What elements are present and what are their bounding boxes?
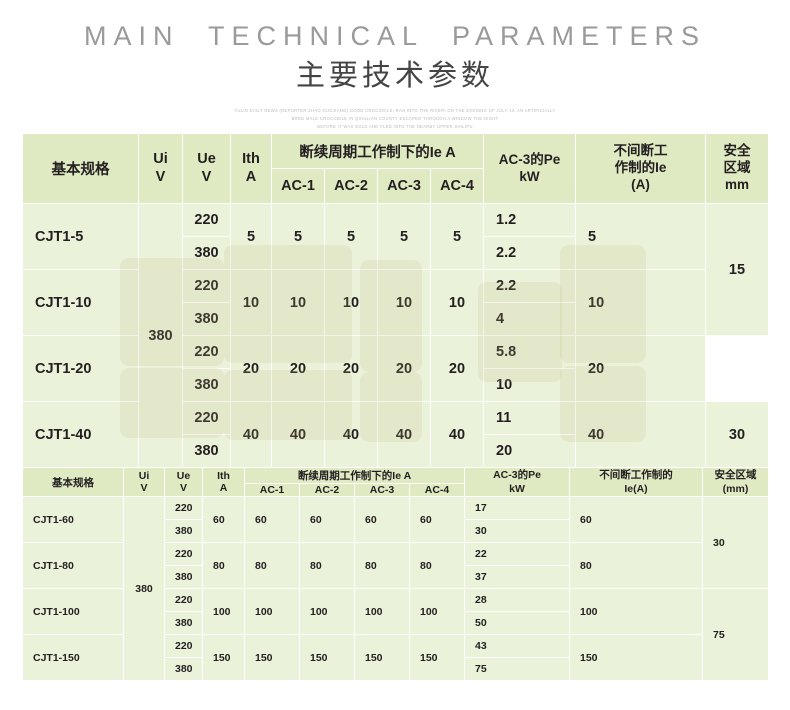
header-ac-group: 断续周期工作制下的Ie A (245, 468, 465, 484)
cell-ith: 150 (203, 635, 245, 681)
header-ue-unit: V (165, 482, 202, 495)
cell-continuous: 5 (576, 204, 706, 270)
cell-ue: 220 (183, 402, 231, 435)
cell-ue: 380 (165, 658, 203, 681)
header-ui-unit: V (139, 169, 182, 186)
cell-ac1: 80 (245, 543, 300, 589)
header-pe-label: AC-3的Pe (465, 468, 569, 482)
cell-safety-zone: 75 (703, 589, 769, 681)
header-ac3: AC-3 (355, 484, 410, 497)
header-ith: Ith A (203, 468, 245, 497)
cell-ue: 220 (165, 635, 203, 658)
cell-ue: 380 (183, 435, 231, 468)
cell-pe: 10 (484, 369, 576, 402)
cell-ue: 380 (183, 303, 231, 336)
header-ac2: AC-2 (300, 484, 355, 497)
cell-pe: 5.8 (484, 336, 576, 369)
header-ac1: AC-1 (245, 484, 300, 497)
cell-spec: CJT1-40 (23, 402, 139, 468)
cell-ac1: 20 (272, 336, 325, 402)
parameters-table-2-wrapper: 基本规格 Ui V Ue V Ith A 断续周期工作制下的Ie A AC-3的… (22, 467, 769, 681)
page-title-english: MAIN TECHNICAL PARAMETERS (0, 22, 790, 52)
cell-pe: 43 (465, 635, 570, 658)
cell-ac2: 40 (325, 402, 378, 468)
cell-ui: 380 (124, 497, 165, 681)
cell-ue: 380 (165, 612, 203, 635)
cell-ac3: 20 (378, 336, 431, 402)
cell-pe: 11 (484, 402, 576, 435)
cell-ac4: 5 (431, 204, 484, 270)
header-ac1: AC-1 (272, 169, 325, 204)
cell-ac2: 60 (300, 497, 355, 543)
cell-ac3: 10 (378, 270, 431, 336)
table-row: CJT1-20 220 20 20 20 20 20 5.8 20 (23, 336, 769, 369)
cell-spec: CJT1-20 (23, 336, 139, 402)
table-row: CJT1-60 380 220 60 60 60 60 60 17 60 30 (23, 497, 769, 520)
header-ue-label: Ue (183, 151, 230, 168)
header-ith: Ith A (231, 134, 272, 204)
cell-ith: 100 (203, 589, 245, 635)
cell-ac4: 10 (431, 270, 484, 336)
header-spec: 基本规格 (23, 468, 124, 497)
cell-ue: 380 (165, 566, 203, 589)
cell-ac4: 100 (410, 589, 465, 635)
cell-ac1: 40 (272, 402, 325, 468)
table-header-row: 基本规格 Ui V Ue V Ith A 断续周期工作制下的Ie A AC-3的… (23, 468, 769, 484)
cell-continuous: 40 (576, 402, 706, 468)
cell-spec: CJT1-60 (23, 497, 124, 543)
cell-ac2: 5 (325, 204, 378, 270)
cell-ac3: 60 (355, 497, 410, 543)
cell-ue: 380 (183, 237, 231, 270)
header-pe-unit: kW (484, 169, 575, 186)
cell-pe: 1.2 (484, 204, 576, 237)
header-ac2: AC-2 (325, 169, 378, 204)
header-ac3: AC-3 (378, 169, 431, 204)
table-row: CJT1-5 380 220 5 5 5 5 5 1.2 5 15 (23, 204, 769, 237)
cell-ac2: 150 (300, 635, 355, 681)
header-ue-unit: V (183, 169, 230, 186)
header-safety-zone: 安全区域 (mm) (703, 468, 769, 497)
cell-continuous: 150 (570, 635, 703, 681)
cell-pe: 28 (465, 589, 570, 612)
cell-pe: 50 (465, 612, 570, 635)
cell-pe: 20 (484, 435, 576, 468)
cell-ac4: 20 (431, 336, 484, 402)
cell-continuous: 20 (576, 336, 706, 402)
cell-spec: CJT1-5 (23, 204, 139, 270)
cell-ac3: 150 (355, 635, 410, 681)
cell-pe: 17 (465, 497, 570, 520)
cell-spec: CJT1-10 (23, 270, 139, 336)
cell-spec: CJT1-100 (23, 589, 124, 635)
table-row: CJT1-10 220 10 10 10 10 10 2.2 10 (23, 270, 769, 303)
header-ui: Ui V (139, 134, 183, 204)
header-ue-label: Ue (165, 470, 202, 483)
header-ac4: AC-4 (410, 484, 465, 497)
cell-ac4: 40 (431, 402, 484, 468)
cell-pe: 75 (465, 658, 570, 681)
cell-continuous: 100 (570, 589, 703, 635)
cell-pe: 2.2 (484, 270, 576, 303)
cell-ac2: 100 (300, 589, 355, 635)
cell-ue: 220 (183, 336, 231, 369)
cell-ue: 380 (183, 369, 231, 402)
header-ith-label: Ith (203, 470, 244, 483)
header-pe: AC-3的Pe kW (484, 134, 576, 204)
page-header: MAIN TECHNICAL PARAMETERS 主要技术参数 YULIN D… (0, 0, 790, 130)
parameters-table-1-wrapper: 基本规格 Ui V Ue V Ith A 断续周期工作制下的Ie A AC-3的… (22, 133, 769, 468)
cell-spec: CJT1-80 (23, 543, 124, 589)
cell-pe: 22 (465, 543, 570, 566)
header-ui-unit: V (124, 482, 164, 495)
cell-pe: 30 (465, 520, 570, 543)
cell-ith: 10 (231, 270, 272, 336)
cell-continuous: 10 (576, 270, 706, 336)
cell-ue: 220 (183, 204, 231, 237)
header-continuous: 不间断工作制的 Ie(A) (570, 468, 703, 497)
cell-ac1: 150 (245, 635, 300, 681)
cell-pe: 2.2 (484, 237, 576, 270)
header-ui-label: Ui (139, 151, 182, 168)
cell-ac4: 60 (410, 497, 465, 543)
header-safety-zone: 安全 区域 mm (706, 134, 769, 204)
header-ith-unit: A (231, 169, 271, 186)
header-ac-group: 断续周期工作制下的Ie A (272, 134, 484, 169)
cell-safety-zone: 30 (706, 402, 769, 468)
cell-ac1: 5 (272, 204, 325, 270)
cell-ac1: 60 (245, 497, 300, 543)
cell-ac2: 20 (325, 336, 378, 402)
header-ith-unit: A (203, 482, 244, 495)
cell-ue: 220 (165, 543, 203, 566)
cell-ue: 220 (183, 270, 231, 303)
cell-spec: CJT1-150 (23, 635, 124, 681)
cell-ith: 20 (231, 336, 272, 402)
cell-continuous: 80 (570, 543, 703, 589)
header-continuous: 不间断工 作制的Ie (A) (576, 134, 706, 204)
header-ac4: AC-4 (431, 169, 484, 204)
cell-ue: 220 (165, 589, 203, 612)
page-title-chinese: 主要技术参数 (0, 59, 790, 94)
cell-ith: 40 (231, 402, 272, 468)
cell-continuous: 60 (570, 497, 703, 543)
cell-ac2: 10 (325, 270, 378, 336)
header-ue: Ue V (165, 468, 203, 497)
table-header-row: 基本规格 Ui V Ue V Ith A 断续周期工作制下的Ie A AC-3的… (23, 134, 769, 169)
cell-ac1: 100 (245, 589, 300, 635)
header-pe-unit: kW (465, 482, 569, 496)
cell-ue: 220 (165, 497, 203, 520)
cell-ith: 60 (203, 497, 245, 543)
parameters-table-1: 基本规格 Ui V Ue V Ith A 断续周期工作制下的Ie A AC-3的… (22, 133, 769, 468)
header-ith-label: Ith (231, 151, 271, 168)
cell-ac1: 10 (272, 270, 325, 336)
cell-ac3: 100 (355, 589, 410, 635)
cell-ac4: 150 (410, 635, 465, 681)
cell-ac3: 40 (378, 402, 431, 468)
cell-safety-zone: 30 (703, 497, 769, 589)
header-ue: Ue V (183, 134, 231, 204)
header-pe: AC-3的Pe kW (465, 468, 570, 497)
cell-safety-zone: 15 (706, 204, 769, 336)
cell-ac3: 80 (355, 543, 410, 589)
cell-ac2: 80 (300, 543, 355, 589)
parameters-table-2: 基本规格 Ui V Ue V Ith A 断续周期工作制下的Ie A AC-3的… (22, 467, 769, 681)
table-row: CJT1-40 220 40 40 40 40 40 11 40 30 (23, 402, 769, 435)
header-pe-label: AC-3的Pe (484, 152, 575, 169)
header-spec: 基本规格 (23, 134, 139, 204)
cell-ith: 80 (203, 543, 245, 589)
cell-ac4: 80 (410, 543, 465, 589)
cell-ui: 380 (139, 204, 183, 468)
cell-ac3: 5 (378, 204, 431, 270)
subtitle-fineprint: YULIN DAILY NEWS (REPORTER ZHAO GUOJIANG… (0, 107, 790, 130)
cell-pe: 37 (465, 566, 570, 589)
cell-pe: 4 (484, 303, 576, 336)
cell-ith: 5 (231, 204, 272, 270)
cell-ue: 380 (165, 520, 203, 543)
header-ui: Ui V (124, 468, 165, 497)
header-ui-label: Ui (124, 470, 164, 483)
